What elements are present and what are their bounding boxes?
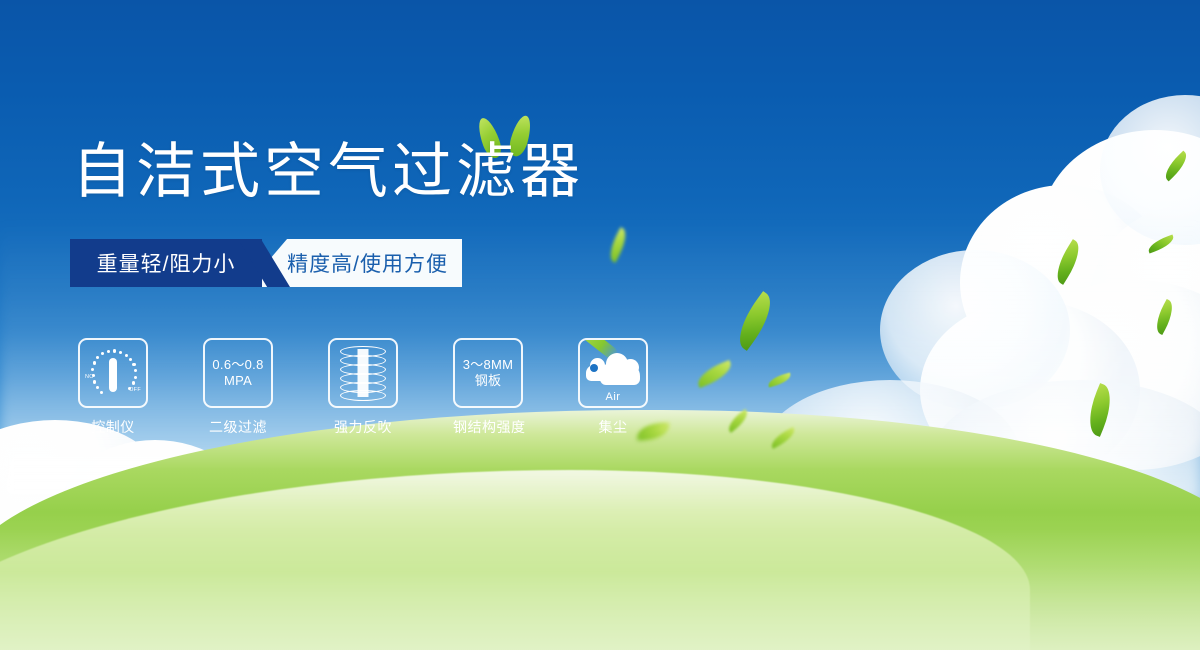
feature-label: 二级过滤 [203,417,273,437]
control-dial-icon: NO OFF [84,346,142,400]
feature-list: NO OFF 控制仪 0.6～0.8 MPA 二级过滤 [78,338,648,437]
subtitle-bar: 精度高/使用方便 重量轻/阻力小 [70,239,462,287]
feature-icon-box: 3～8MM 钢板 [453,338,523,408]
feature-icon-box [328,338,398,408]
feature-item-dust-collection[interactable]: Air 集尘 [578,338,648,437]
air-label: Air [584,391,642,403]
dial-label-off: OFF [129,387,141,393]
feature-item-steel-plate[interactable]: 3～8MM 钢板 钢结构强度 [453,338,523,437]
cloud-hole [590,364,598,372]
feature-icon-box: Air [578,338,648,408]
air-cloud-icon: Air [584,347,642,399]
feature-item-pressure[interactable]: 0.6～0.8 MPA 二级过滤 [203,338,273,437]
filter-coil-icon [340,346,386,400]
steel-plate-icon: 3～8MM [463,357,514,373]
grass-highlight [0,530,1200,650]
feature-icon-box: 0.6～0.8 MPA [203,338,273,408]
feature-icon-box: NO OFF [78,338,148,408]
dial-needle [109,358,117,392]
feature-item-backblow[interactable]: 强力反吹 [328,338,398,437]
cloud-bump-2 [622,359,639,376]
feature-label: 强力反吹 [328,417,398,437]
page-title: 自洁式空气过滤器 [72,142,584,202]
dial-label-no: NO [85,374,94,380]
subtitle-right-text: 精度高/使用方便 [287,248,448,278]
subtitle-left-panel: 重量轻/阻力小 [70,239,262,287]
feature-label: 控制仪 [78,417,148,437]
pressure-unit-text: MPA [224,373,252,389]
steel-plate-unit-text: 钢板 [475,373,502,389]
product-banner: 自洁式空气过滤器 精度高/使用方便 重量轻/阻力小 [0,0,1200,650]
feature-label: 钢结构强度 [453,417,523,437]
subtitle-left-text: 重量轻/阻力小 [97,248,236,278]
feature-item-control-dial[interactable]: NO OFF 控制仪 [78,338,148,437]
pressure-value-icon: 0.6～0.8 [212,357,263,373]
